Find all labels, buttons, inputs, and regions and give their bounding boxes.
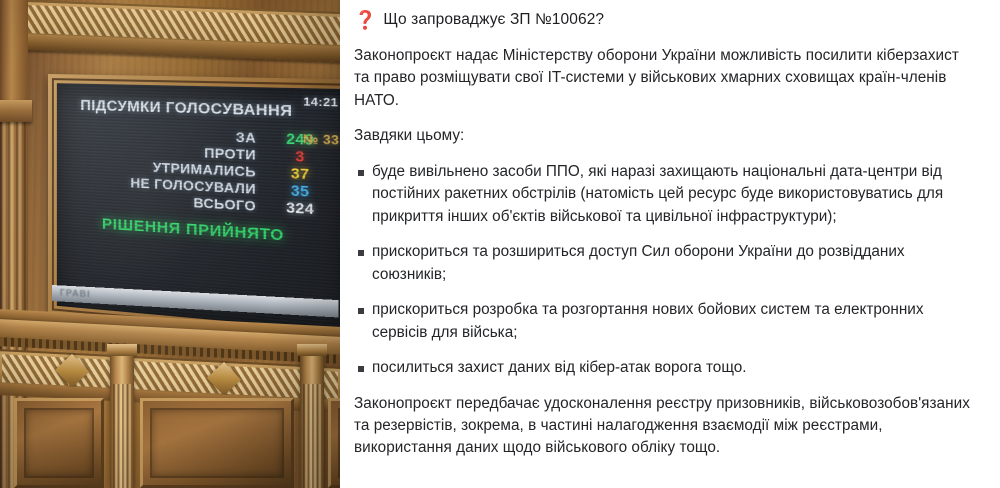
article-heading-text: Що запроваджує ЗП №10062? xyxy=(383,11,604,30)
board-vote-number: № 33 xyxy=(303,131,340,147)
list-item-text: прискориться розробка та розгортання нов… xyxy=(372,301,924,340)
wall-pilaster xyxy=(300,352,324,488)
pilaster-capital xyxy=(297,344,327,356)
list-item: прискориться розробка та розгортання нов… xyxy=(354,299,978,344)
list-item-text: буде вивільнено засоби ППО, які наразі з… xyxy=(372,163,943,225)
article-lead-in: Завдяки цьому: xyxy=(354,125,978,147)
board-clock: 14:21 xyxy=(303,96,338,110)
pilaster-flutes xyxy=(303,384,321,488)
square-bullet-icon xyxy=(358,308,364,314)
article-benefits-list: буде вивільнено засоби ППО, які наразі з… xyxy=(354,161,978,380)
list-item: прискориться та розшириться доступ Сил о… xyxy=(354,241,978,286)
article-text-panel: ❓ Що запроваджує ЗП №10062? Законопроєкт… xyxy=(340,0,1000,488)
article-intro-paragraph: Законопроєкт надає Міністерству оборони … xyxy=(354,45,978,112)
board-verdict: РІШЕННЯ ПРИЙНЯТО xyxy=(67,213,325,247)
wall-panel xyxy=(14,398,104,488)
list-item: посилиться захист даних від кібер-атак в… xyxy=(354,357,978,379)
list-item: буде вивільнено засоби ППО, які наразі з… xyxy=(354,161,978,228)
square-bullet-icon xyxy=(358,250,364,256)
pilaster-capital xyxy=(107,344,137,356)
square-bullet-icon xyxy=(358,366,364,372)
vote-tally: ЗА 249 ПРОТИ 3 УТРИМАЛИСЬ 37 НЕ ГОЛОСУ xyxy=(67,124,334,219)
tally-label-proty: ПРОТИ xyxy=(204,146,256,163)
list-item-text: прискориться та розшириться доступ Сил о… xyxy=(372,243,905,282)
article-heading: ❓ Що запроваджує ЗП №10062? xyxy=(354,11,978,32)
parliament-photo: 14:21 ПІДСУМКИ ГОЛОСУВАННЯ № 33 ЗА 249 П… xyxy=(0,0,340,488)
bezel-manufacturer-logo: ГРАВІ xyxy=(60,287,91,299)
article-closing-paragraph: Законопроєкт передбачає удосконалення ре… xyxy=(354,393,978,460)
tally-value-vsoho: 324 xyxy=(267,199,333,219)
wall-panel xyxy=(140,398,294,488)
tally-label-vsoho: ВСЬОГО xyxy=(193,196,256,214)
square-bullet-icon xyxy=(358,170,364,176)
pilaster-flutes xyxy=(113,384,131,488)
wall-panel xyxy=(328,398,340,488)
list-item-text: посилиться захист даних від кібер-атак в… xyxy=(372,359,747,376)
board-title: ПІДСУМКИ ГОЛОСУВАННЯ xyxy=(67,97,308,120)
red-question-mark-icon: ❓ xyxy=(354,11,376,32)
left-column-capital xyxy=(0,100,32,122)
screenshot-root: 14:21 ПІДСУМКИ ГОЛОСУВАННЯ № 33 ЗА 249 П… xyxy=(0,0,1000,488)
tally-value-proty: 3 xyxy=(267,147,333,166)
wall-pilaster xyxy=(110,352,134,488)
tally-label-za: ЗА xyxy=(236,130,256,146)
